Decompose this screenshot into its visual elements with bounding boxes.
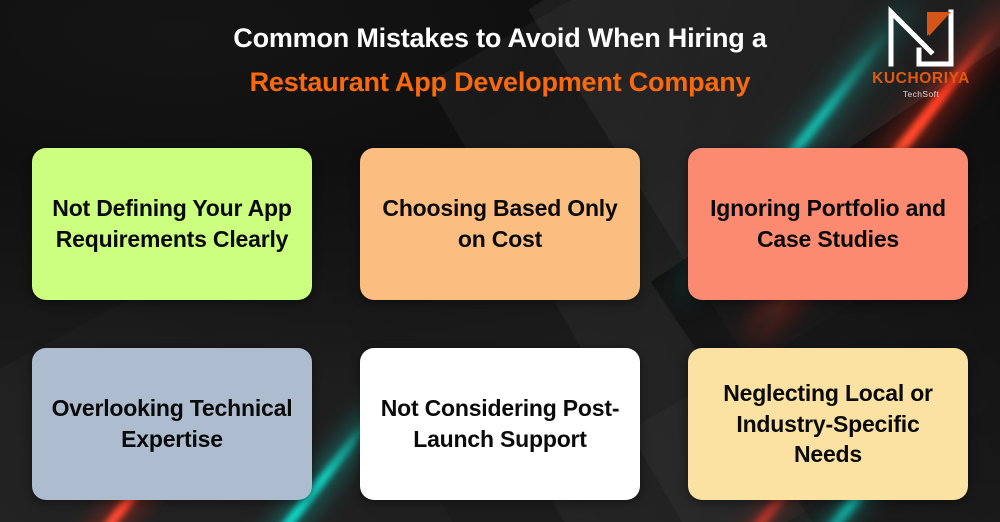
- mistake-card-5-label: Not Considering Post-Launch Support: [376, 393, 624, 455]
- infographic-canvas: Common Mistakes to Avoid When Hiring a R…: [0, 0, 1000, 522]
- mistake-card-3-label: Ignoring Portfolio and Case Studies: [704, 193, 952, 255]
- mistake-card-6[interactable]: Neglecting Local or Industry-Specific Ne…: [688, 348, 968, 500]
- kuchoriya-monogram-icon: [885, 6, 957, 68]
- mistake-card-2[interactable]: Choosing Based Only on Cost: [360, 148, 640, 300]
- title-line-accent: Restaurant App Development Company: [0, 66, 1000, 100]
- mistake-card-4[interactable]: Overlooking Technical Expertise: [32, 348, 312, 500]
- mistake-card-5[interactable]: Not Considering Post-Launch Support: [360, 348, 640, 500]
- mistake-card-6-label: Neglecting Local or Industry-Specific Ne…: [704, 378, 952, 470]
- logo-wordmark: KUCHORIYA: [858, 70, 984, 88]
- page-title: Common Mistakes to Avoid When Hiring a R…: [0, 22, 1000, 100]
- mistake-card-1-label: Not Defining Your App Requirements Clear…: [48, 193, 296, 255]
- mistake-card-2-label: Choosing Based Only on Cost: [376, 193, 624, 255]
- mistake-card-3[interactable]: Ignoring Portfolio and Case Studies: [688, 148, 968, 300]
- mistake-card-1[interactable]: Not Defining Your App Requirements Clear…: [32, 148, 312, 300]
- logo-subtext: TechSoft: [858, 89, 984, 99]
- brand-logo[interactable]: KUCHORIYA TechSoft: [858, 6, 984, 99]
- mistake-card-4-label: Overlooking Technical Expertise: [48, 393, 296, 455]
- title-line-primary: Common Mistakes to Avoid When Hiring a: [0, 22, 1000, 56]
- mistakes-card-grid: Not Defining Your App Requirements Clear…: [32, 148, 968, 500]
